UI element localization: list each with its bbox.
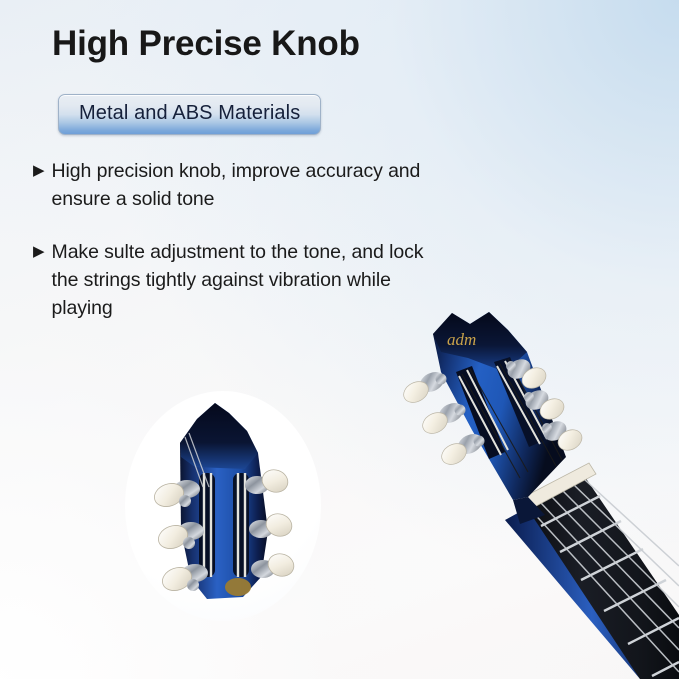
- inset-headstock-crown: [180, 403, 258, 469]
- inset-heel-badge: [225, 578, 251, 596]
- inset-illustration: [125, 391, 321, 621]
- infographic-canvas: adm: [0, 0, 679, 679]
- inset-slot-left: [199, 473, 215, 577]
- list-item: ▶ Make sulte adjustment to the tone, and…: [33, 239, 453, 322]
- guitar-neck: [505, 463, 679, 679]
- feature-list: ▶ High precision knob, improve accuracy …: [33, 158, 453, 348]
- detail-inset-circle: [125, 391, 321, 621]
- list-item-text: Make sulte adjustment to the tone, and l…: [52, 239, 453, 322]
- page-title: High Precise Knob: [52, 25, 360, 64]
- triangle-bullet-icon: ▶: [33, 239, 45, 263]
- list-item-text: High precision knob, improve accuracy an…: [52, 158, 453, 213]
- fretboard: [527, 477, 679, 679]
- materials-badge: Metal and ABS Materials: [58, 94, 321, 135]
- list-item: ▶ High precision knob, improve accuracy …: [33, 158, 453, 213]
- triangle-bullet-icon: ▶: [33, 158, 45, 182]
